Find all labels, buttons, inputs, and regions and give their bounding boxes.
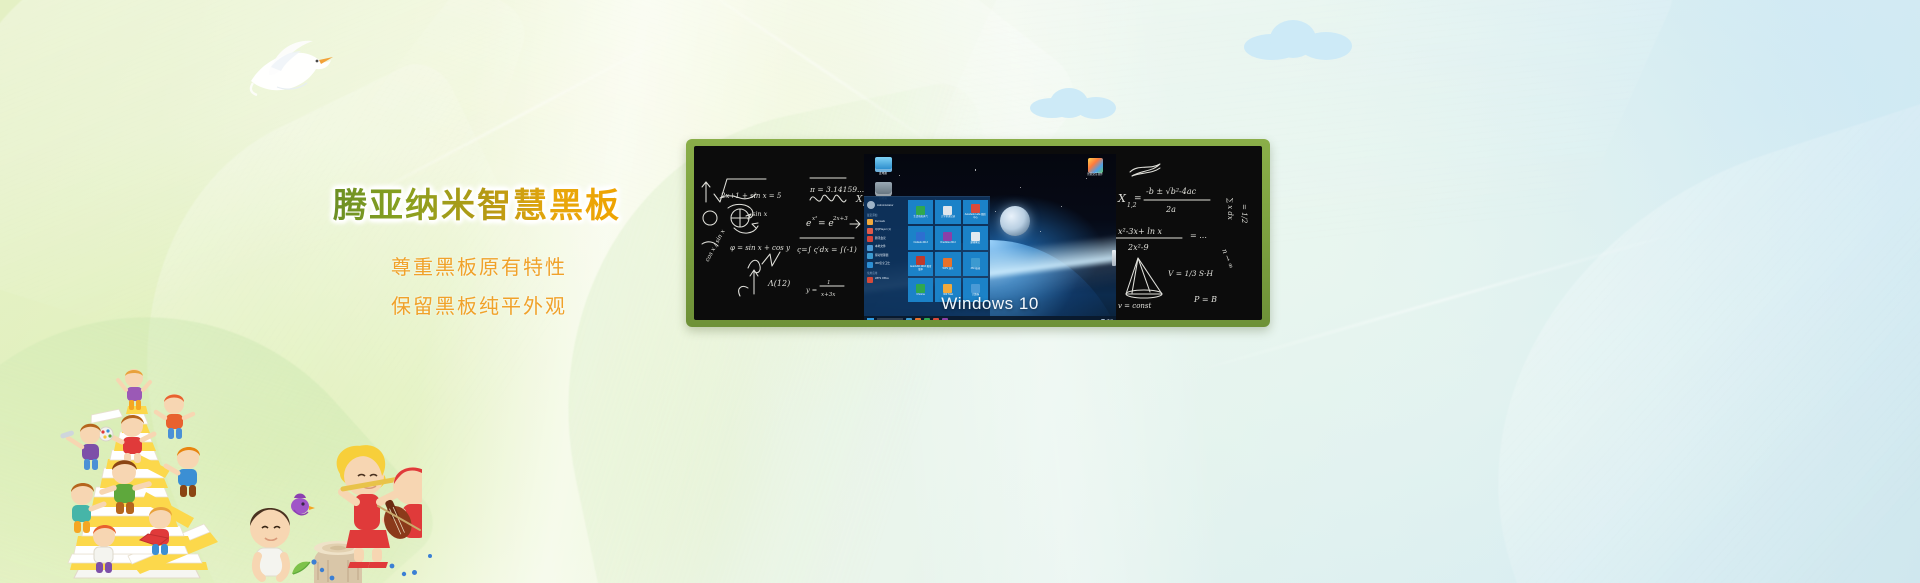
children-illustration [22, 366, 422, 583]
svg-text:2x²-9: 2x²-9 [1127, 243, 1149, 252]
tile-label: 生活动态天气 [912, 216, 928, 219]
start-menu-item[interactable]: 驱动管理器 [867, 253, 904, 259]
start-button-icon[interactable] [867, 318, 874, 321]
start-menu-app-list[interactable]: Administrator 最近添加 Furmark QQPlayer (1) [864, 197, 906, 316]
svg-text:ς=∫ ς′dx = ∫(-1): ς=∫ ς′dx = ∫(-1) [797, 245, 857, 254]
start-tile[interactable]: OneNote 2013 [935, 226, 960, 250]
app-label: 腾讯会议 [875, 238, 886, 241]
tile-label: Chrome [915, 294, 926, 297]
svg-text:φ = sin x + cos y: φ = sin x + cos y [730, 244, 791, 252]
start-menu-item[interactable]: WPS Office [867, 277, 904, 283]
kid-sitting-boy [250, 508, 290, 578]
computer-icon [875, 157, 892, 172]
tile-icon [943, 258, 952, 267]
taskbar-icon[interactable] [906, 318, 912, 320]
icon-caption: 智能交互软件 [1080, 174, 1110, 177]
svg-text:y =: y = [805, 286, 817, 294]
tile-label: WPS 演示 [942, 268, 955, 271]
tile-icon [916, 206, 925, 215]
svg-text:P = B: P = B [1193, 295, 1217, 304]
tile-icon [916, 232, 925, 241]
svg-text:2a: 2a [1165, 205, 1176, 214]
recycle-bin-icon [875, 182, 892, 197]
tile-icon [916, 256, 925, 265]
app-icon [867, 262, 873, 268]
svg-text:π = 3.14159...: π = 3.14159... [809, 185, 864, 194]
desktop-icon-this-pc[interactable]: 此电脑 [866, 157, 900, 176]
tile-label: Autodesk Labs 图形中心 [963, 214, 988, 219]
start-menu-item[interactable]: 腾讯会议 [867, 236, 904, 242]
svg-text:e: e [806, 219, 811, 229]
purple-bird-icon [291, 494, 315, 515]
smart-blackboard-device[interactable]: 2x+1 + sin x = 5 sin x cos x / sin x φ [686, 139, 1270, 327]
app-icon [867, 236, 873, 242]
app-icon [867, 228, 873, 234]
app-label: 驱动管理器 [875, 255, 888, 258]
desktop-icon-app-shortcut[interactable]: 智能交互软件 [1080, 158, 1110, 177]
icon-caption: 此电脑 [866, 173, 900, 176]
start-menu-user[interactable]: Administrator [867, 201, 904, 209]
app-icon [867, 219, 873, 225]
cloud-shape [1030, 86, 1118, 120]
kid-reader [156, 394, 193, 439]
tile-icon [971, 232, 980, 241]
svg-text:sin x: sin x [752, 210, 768, 218]
svg-text:cos x / sin x: cos x / sin x [704, 228, 727, 263]
tile-label: 大学慕课记录 [940, 216, 956, 219]
tile-icon [971, 284, 980, 293]
app-label: 360安全卫士 [875, 263, 890, 266]
taskbar-icon[interactable] [915, 318, 921, 320]
start-tile[interactable]: Chrome [908, 278, 933, 302]
wallpaper-label: Windows 10 [941, 294, 1039, 314]
screen-side-marker[interactable] [1112, 250, 1116, 266]
start-tile[interactable]: 生活动态天气 [908, 200, 933, 224]
start-tile[interactable]: Autodesk Labs 图形中心 [963, 200, 988, 224]
tile-label: 360 极速 [970, 268, 981, 271]
start-menu-item[interactable]: Furmark [867, 219, 904, 225]
start-menu-item[interactable]: 本地文件 [867, 245, 904, 251]
tile-label: OneNote 2013 [939, 242, 957, 245]
page-title: 腾亚纳米智慧黑板 [333, 186, 633, 227]
svg-text:x+3x: x+3x [821, 292, 836, 298]
svg-text:= e: = e [818, 219, 834, 229]
svg-text:2x+3: 2x+3 [832, 216, 848, 222]
start-tile[interactable]: 建模笔记 [963, 226, 988, 250]
svg-text:=: = [1134, 194, 1142, 204]
kid-climber [118, 369, 150, 410]
tile-label: Outlook 2013 [913, 242, 929, 245]
start-tile[interactable]: AutoCAD 2016 教育版本 [908, 252, 933, 276]
avatar [867, 201, 875, 209]
svg-text:= 1/2: = 1/2 [1240, 204, 1248, 224]
banner-stage: 腾亚纳米智慧黑板 尊重黑板原有特性 保留黑板纯平外观 2x+1 + sin x [0, 0, 1920, 583]
headline-block: 腾亚纳米智慧黑板 尊重黑板原有特性 保留黑板纯平外观 [333, 186, 633, 327]
start-menu-item[interactable]: 360安全卫士 [867, 262, 904, 268]
tile-icon [943, 284, 952, 293]
svg-text:x²: x² [812, 215, 817, 222]
svg-text:x²-3x+ ln x: x²-3x+ ln x [1118, 227, 1163, 236]
subtitle-line-2: 保留黑板纯平外观 [333, 288, 633, 327]
blackboard-screen[interactable]: 2x+1 + sin x = 5 sin x cos x / sin x φ [694, 146, 1262, 320]
taskbar-icon[interactable] [924, 318, 930, 320]
start-tile[interactable]: 360 极速 [963, 252, 988, 276]
subtitle-line-1: 尊重黑板原有特性 [333, 249, 633, 288]
taskbar-icon[interactable] [942, 318, 948, 320]
tile-icon [971, 258, 980, 267]
svg-text:Λ(12): Λ(12) [767, 279, 790, 288]
app-icon [867, 253, 873, 259]
start-tile[interactable]: 大学慕课记录 [935, 200, 960, 224]
start-tile[interactable]: WPS 演示 [935, 252, 960, 276]
cloud-shape [1244, 18, 1354, 62]
user-name: Administrator [877, 204, 893, 207]
moon-graphic [1000, 206, 1030, 236]
taskbar[interactable]: 15:42 [864, 316, 1116, 320]
tile-icon [943, 232, 952, 241]
svg-text:X: X [855, 195, 863, 205]
taskbar-icon[interactable] [933, 318, 939, 320]
tile-icon [943, 206, 952, 215]
app-label: WPS Office [875, 278, 889, 281]
windows-desktop[interactable]: 此电脑 回收站 智能交互软件 [864, 154, 1116, 320]
app-icon [867, 245, 873, 251]
subtitle-group: 尊重黑板原有特性 保留黑板纯平外观 [333, 249, 633, 327]
svg-text:1: 1 [827, 280, 831, 286]
system-tray[interactable]: 15:42 [1101, 319, 1114, 320]
svg-text:v = const: v = const [1118, 302, 1152, 310]
svg-text:n → ∞: n → ∞ [1220, 248, 1235, 270]
start-tile[interactable]: Outlook 2013 [908, 226, 933, 250]
section-label: 最近添加 [867, 213, 904, 217]
tile-icon [916, 284, 925, 293]
start-menu-item[interactable]: QQPlayer (1) [867, 228, 904, 234]
app-icon [867, 277, 873, 283]
tray-icon[interactable] [1101, 319, 1105, 320]
taskbar-search-input[interactable] [877, 318, 903, 320]
tile-label: 建模笔记 [970, 242, 982, 245]
section-label: 常用应用 [867, 271, 904, 275]
tile-icon [971, 204, 980, 213]
tile-label: AutoCAD 2016 教育版本 [908, 266, 933, 271]
svg-text:= ...: = ... [1190, 231, 1207, 240]
app-label: Furmark [875, 221, 885, 224]
kid-telescope [60, 424, 101, 470]
svg-text:∑ x dx: ∑ x dx [1226, 198, 1234, 220]
app-shortcut-icon [1088, 158, 1103, 173]
kid-side-blue [166, 447, 200, 497]
dove-icon [243, 35, 338, 97]
svg-text:X: X [1117, 192, 1127, 205]
svg-text:V = 1/3 S·H: V = 1/3 S·H [1168, 269, 1213, 278]
svg-text:2x+1 + sin x = 5: 2x+1 + sin x = 5 [720, 192, 782, 200]
app-label: 本地文件 [875, 246, 886, 249]
blackboard-frame: 2x+1 + sin x = 5 sin x cos x / sin x φ [686, 139, 1270, 327]
app-label: QQPlayer (1) [875, 229, 891, 232]
svg-text:-b ± √b²-4ac: -b ± √b²-4ac [1146, 187, 1197, 196]
